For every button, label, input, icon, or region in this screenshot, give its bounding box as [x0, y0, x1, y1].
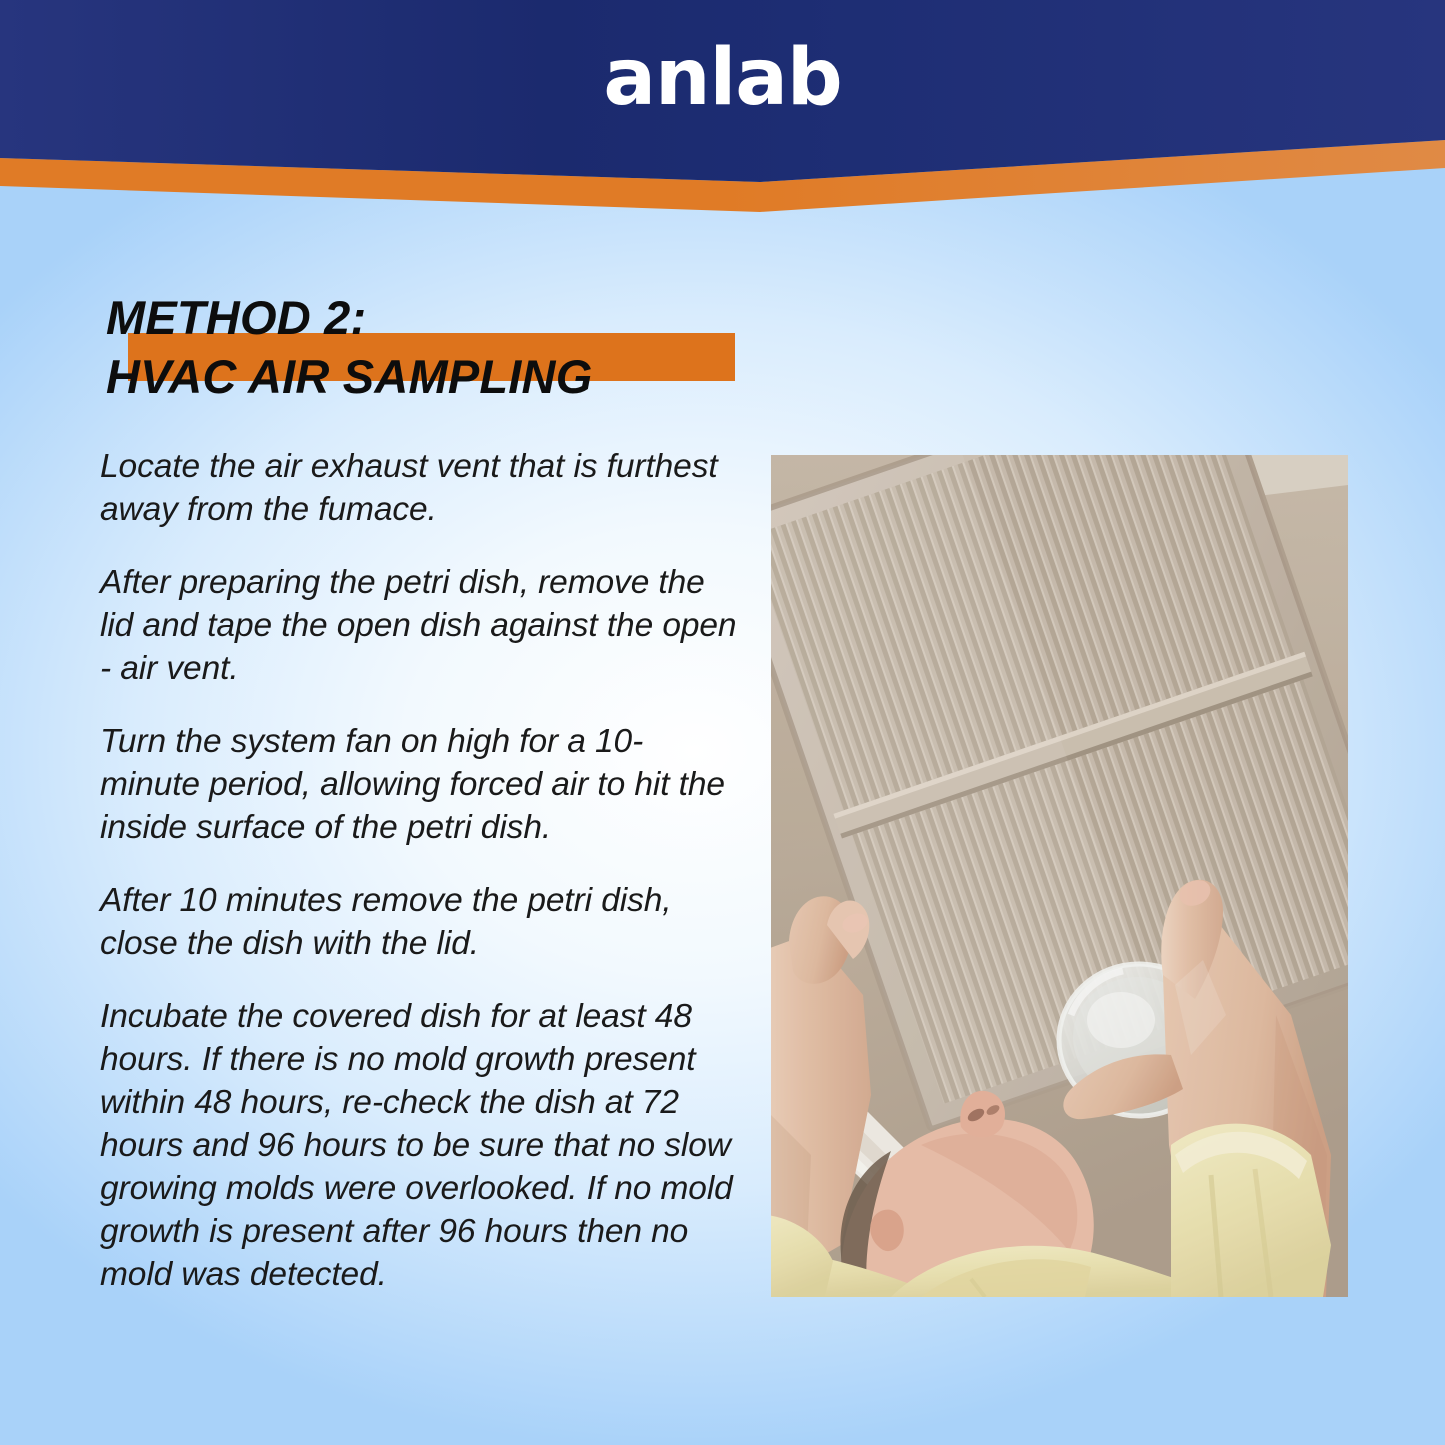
- header-shape: [0, 0, 1445, 215]
- poster-canvas: anlab METHOD 2: HVAC AIR SAMPLING Locate…: [0, 0, 1445, 1445]
- step-text: cate the air exhaust vent that is furthe…: [100, 448, 718, 528]
- step-lead-highlight: A: [100, 879, 122, 922]
- step-lead-highlight: Lo: [100, 445, 137, 488]
- title-line-1: METHOD 2:: [106, 288, 806, 347]
- header-banner: anlab: [0, 0, 1445, 215]
- photo-illustration: [771, 455, 1348, 1297]
- page-title: METHOD 2: HVAC AIR SAMPLING: [106, 288, 806, 406]
- step-text: ter preparing the petri dish, remove the…: [100, 564, 736, 687]
- step-paragraph: Incubate the covered dish for at least 4…: [100, 995, 740, 1296]
- step-lead-highlight: Af: [100, 561, 131, 604]
- step-text: cubate the covered dish for at least 48 …: [100, 998, 733, 1293]
- step-text: fter 10 minutes remove the petri dish, c…: [100, 882, 671, 962]
- step-paragraph: Turn the system fan on high for a 10-min…: [100, 720, 740, 849]
- step-paragraph: After 10 minutes remove the petri dish, …: [100, 879, 740, 965]
- steps-list: Locate the air exhaust vent that is furt…: [100, 445, 740, 1296]
- step-text: rn the system fan on high for a 10-minut…: [100, 723, 725, 846]
- step-lead-highlight: Tu: [100, 720, 136, 763]
- step-paragraph: Locate the air exhaust vent that is furt…: [100, 445, 740, 531]
- hvac-sampling-photo: [771, 455, 1348, 1297]
- step-paragraph: After preparing the petri dish, remove t…: [100, 561, 740, 690]
- title-line-2: HVAC AIR SAMPLING: [106, 347, 806, 406]
- step-lead-highlight: In: [100, 995, 128, 1038]
